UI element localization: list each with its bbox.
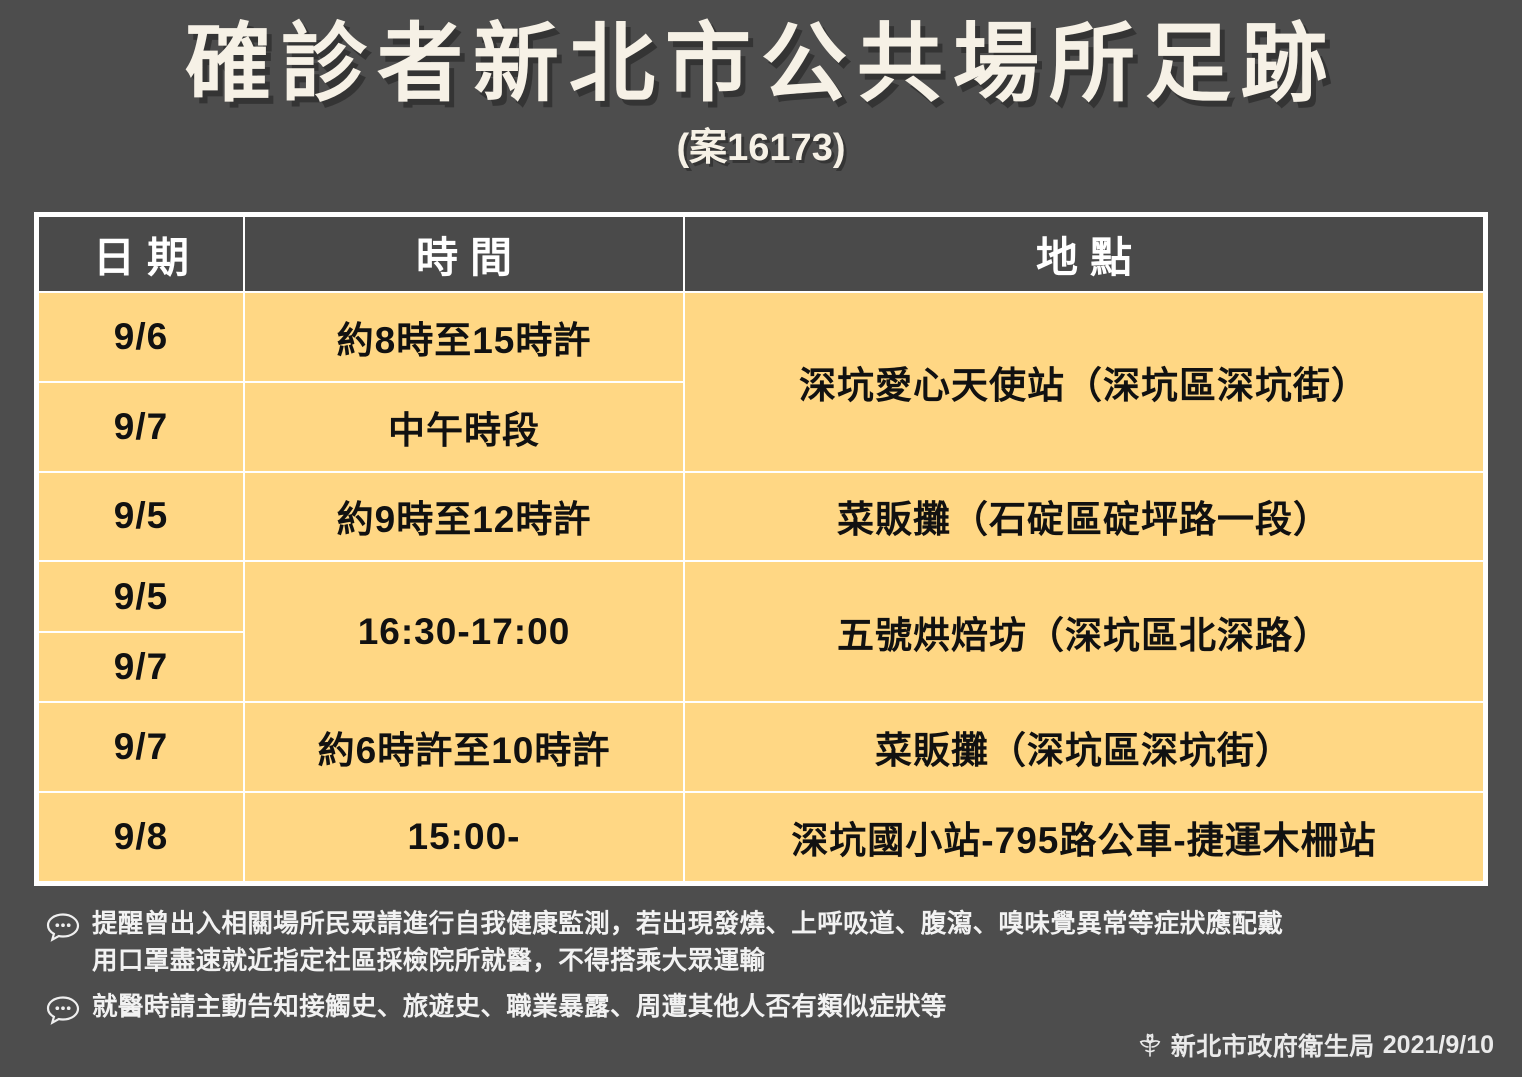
new-taipei-city-emblem-icon xyxy=(1135,1030,1165,1060)
cell-location: 深坑愛心天使站（深坑區深坑街） xyxy=(684,292,1484,472)
speech-bubble-icon xyxy=(46,912,80,942)
cell-time: 16:30-17:00 xyxy=(244,561,684,702)
cell-date: 9/7 xyxy=(38,702,244,792)
cell-time: 中午時段 xyxy=(244,382,684,472)
cell-time: 約9時至12時許 xyxy=(244,472,684,562)
cell-location: 菜販攤（深坑區深坑街） xyxy=(684,702,1484,792)
cell-date: 9/5 xyxy=(38,472,244,562)
column-header-time: 時間 xyxy=(244,216,684,292)
table-header-row: 日期 時間 地點 xyxy=(38,216,1484,292)
cell-time: 約8時至15時許 xyxy=(244,292,684,382)
cell-date: 9/7 xyxy=(38,382,244,472)
page-title: 確診者新北市公共場所足跡 xyxy=(0,16,1522,112)
cell-location: 五號烘焙坊（深坑區北深路） xyxy=(684,561,1484,702)
table-row: 9/6 約8時至15時許 深坑愛心天使站（深坑區深坑街） xyxy=(38,292,1484,382)
note-text-line-1: 提醒曾出入相關場所民眾請進行自我健康監測，若出現發燒、上呼吸道、腹瀉、嗅味覺異常… xyxy=(92,906,1283,942)
table-row: 9/5 16:30-17:00 五號烘焙坊（深坑區北深路） xyxy=(38,561,1484,632)
cell-date: 9/5 xyxy=(38,561,244,632)
trace-table-container: 日期 時間 地點 9/6 約8時至15時許 深坑愛心天使站（深坑區深坑街） 9/… xyxy=(34,212,1488,886)
cell-date: 9/7 xyxy=(38,632,244,703)
title-block: 確診者新北市公共場所足跡 (案16173) xyxy=(0,0,1522,171)
trace-table: 日期 時間 地點 9/6 約8時至15時許 深坑愛心天使站（深坑區深坑街） 9/… xyxy=(37,215,1485,883)
table-row: 9/5 約9時至12時許 菜販攤（石碇區碇坪路一段） xyxy=(38,472,1484,562)
agency-name: 新北市政府衛生局 xyxy=(1171,1027,1375,1063)
cell-time: 15:00- xyxy=(244,792,684,882)
footer-notes: 提醒曾出入相關場所民眾請進行自我健康監測，若出現發燒、上呼吸道、腹瀉、嗅味覺異常… xyxy=(46,906,1486,1031)
cell-date: 9/6 xyxy=(38,292,244,382)
table-body: 9/6 約8時至15時許 深坑愛心天使站（深坑區深坑街） 9/7 中午時段 9/… xyxy=(38,292,1484,882)
note-text-line-1: 就醫時請主動告知接觸史、旅遊史、職業暴露、周遭其他人否有類似症狀等 xyxy=(92,989,947,1025)
column-header-location: 地點 xyxy=(684,216,1484,292)
note-text-line-2: 用口罩盡速就近指定社區採檢院所就醫，不得搭乘大眾運輸 xyxy=(92,943,1486,979)
case-number-subtitle: (案16173) xyxy=(0,116,1522,171)
note-item: 就醫時請主動告知接觸史、旅遊史、職業暴露、周遭其他人否有類似症狀等 xyxy=(46,989,1486,1025)
cell-date: 9/8 xyxy=(38,792,244,882)
column-header-date: 日期 xyxy=(38,216,244,292)
table-row: 9/8 15:00- 深坑國小站-795路公車-捷運木柵站 xyxy=(38,792,1484,882)
speech-bubble-icon xyxy=(46,995,80,1025)
note-item: 提醒曾出入相關場所民眾請進行自我健康監測，若出現發燒、上呼吸道、腹瀉、嗅味覺異常… xyxy=(46,906,1486,942)
cell-location: 菜販攤（石碇區碇坪路一段） xyxy=(684,472,1484,562)
cell-location: 深坑國小站-795路公車-捷運木柵站 xyxy=(684,792,1484,882)
table-row: 9/7 約6時許至10時許 菜販攤（深坑區深坑街） xyxy=(38,702,1484,792)
agency-signature: 新北市政府衛生局 2021/9/10 xyxy=(1135,1027,1494,1063)
poster-root: 確診者新北市公共場所足跡 (案16173) 日期 時間 地點 9/6 約8時至1… xyxy=(0,0,1522,1077)
publish-date: 2021/9/10 xyxy=(1383,1031,1494,1060)
cell-time: 約6時許至10時許 xyxy=(244,702,684,792)
table-head: 日期 時間 地點 xyxy=(38,216,1484,292)
